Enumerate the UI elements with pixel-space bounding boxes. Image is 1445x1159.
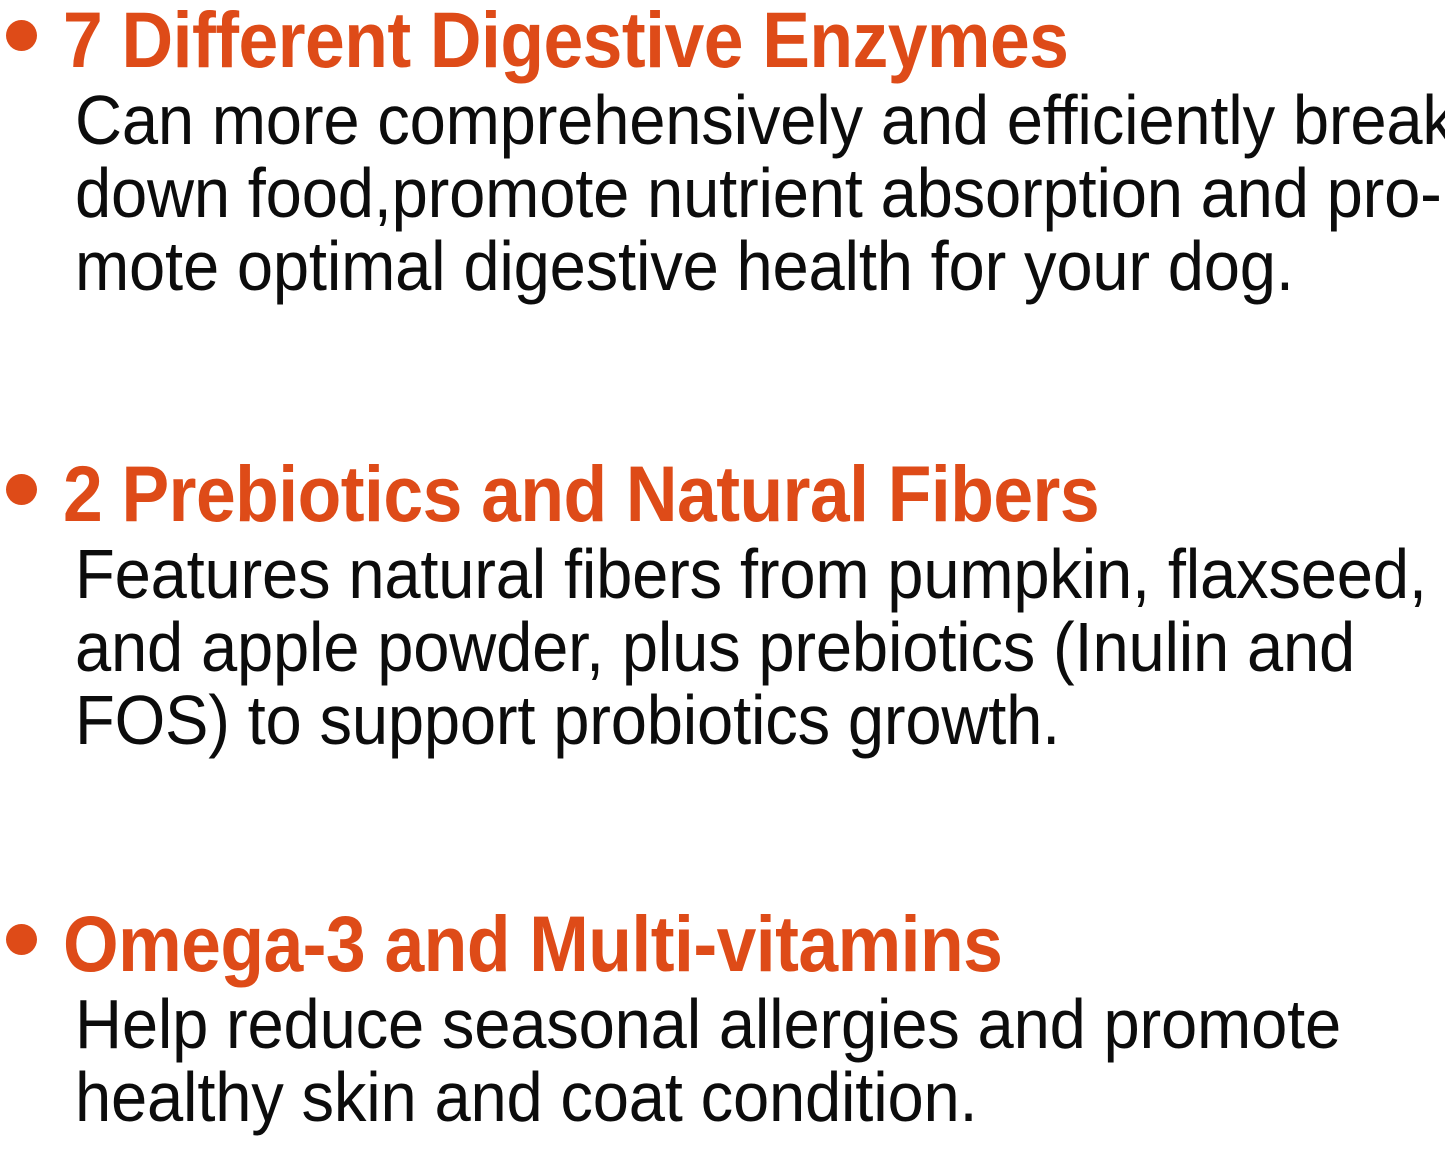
feature-title: 7 Different Digestive Enzymes: [63, 0, 1068, 82]
round-bullet-icon: [6, 20, 37, 51]
feature-body-line: mote optimal digestive health for your d…: [75, 230, 1351, 303]
feature-title: Omega-3 and Multi-vitamins: [63, 902, 1002, 986]
feature-body-line: Features natural fibers from pumpkin, fl…: [75, 538, 1351, 611]
feature-block: 7 Different Digestive Enzymes Can more c…: [0, 0, 1445, 82]
feature-body: Help reduce seasonal allergies and promo…: [75, 988, 1445, 1134]
feature-block: 2 Prebiotics and Natural Fibers Features…: [0, 452, 1445, 536]
feature-body-line: Help reduce seasonal allergies and promo…: [75, 988, 1351, 1061]
feature-body-line: healthy skin and coat condition.: [75, 1061, 1351, 1134]
feature-body-line: and apple powder, plus prebiotics (Inuli…: [75, 611, 1351, 684]
feature-body-line: down food,promote nutrient absorption an…: [75, 157, 1351, 230]
feature-title: 2 Prebiotics and Natural Fibers: [63, 452, 1099, 536]
feature-heading-row: 2 Prebiotics and Natural Fibers: [0, 452, 1445, 536]
feature-heading-row: 7 Different Digestive Enzymes: [0, 0, 1445, 82]
round-bullet-icon: [6, 924, 37, 955]
feature-body: Features natural fibers from pumpkin, fl…: [75, 538, 1445, 757]
feature-body-line: FOS) to support probiotics growth.: [75, 684, 1351, 757]
feature-body-line: Can more comprehensively and efficiently…: [75, 84, 1351, 157]
feature-list: 7 Different Digestive Enzymes Can more c…: [0, 0, 1445, 1159]
round-bullet-icon: [6, 474, 37, 505]
feature-block: Omega-3 and Multi-vitamins Help reduce s…: [0, 902, 1445, 986]
feature-body: Can more comprehensively and efficiently…: [75, 84, 1445, 303]
feature-heading-row: Omega-3 and Multi-vitamins: [0, 902, 1445, 986]
